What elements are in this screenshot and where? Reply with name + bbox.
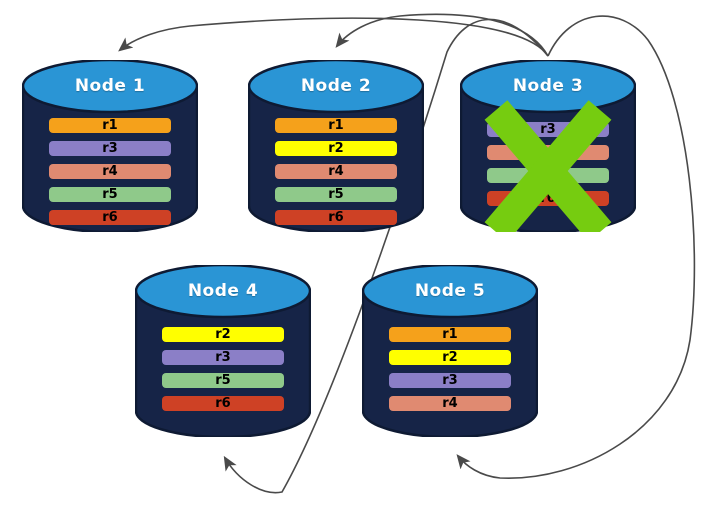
database-node[interactable]: Node 2r1r2r4r5r6 [248, 60, 424, 232]
replica-list: r1r3r4r5r6 [22, 118, 198, 225]
replica-bar[interactable]: r3 [162, 350, 284, 365]
replica-list: r1r2r4r5r6 [248, 118, 424, 225]
replica-bar[interactable]: r5 [49, 187, 171, 202]
replica-bar[interactable]: r4 [49, 164, 171, 179]
replication-edge [337, 14, 548, 56]
replication-edge [120, 18, 548, 56]
replica-bar[interactable]: r1 [275, 118, 397, 133]
replica-bar[interactable]: r3 [49, 141, 171, 156]
replica-bar[interactable]: r6 [275, 210, 397, 225]
replica-bar[interactable]: r3 [389, 373, 511, 388]
replica-list: r1r2r3r4 [362, 327, 538, 411]
replica-bar[interactable]: r6 [487, 191, 609, 206]
cylinder-top [136, 265, 310, 317]
replica-bar[interactable]: r2 [389, 350, 511, 365]
replica-bar[interactable]: r4 [275, 164, 397, 179]
replica-bar[interactable]: r6 [49, 210, 171, 225]
database-node[interactable]: Node 3r3r4r5r6 [460, 60, 636, 232]
replica-bar[interactable]: r4 [389, 396, 511, 411]
replica-bar[interactable]: r1 [389, 327, 511, 342]
replica-bar[interactable]: r5 [487, 168, 609, 183]
diagram-canvas: Node 1r1r3r4r5r6Node 2r1r2r4r5r6Node 3r3… [0, 0, 708, 508]
cylinder-top [363, 265, 537, 317]
replica-bar[interactable]: r6 [162, 396, 284, 411]
replica-list: r2r3r5r6 [135, 327, 311, 411]
database-node[interactable]: Node 1r1r3r4r5r6 [22, 60, 198, 232]
database-node[interactable]: Node 5r1r2r3r4 [362, 265, 538, 437]
replica-bar[interactable]: r5 [162, 373, 284, 388]
cylinder-top [461, 60, 635, 112]
replica-bar[interactable]: r3 [487, 122, 609, 137]
replica-bar[interactable]: r4 [487, 145, 609, 160]
replica-bar[interactable]: r2 [275, 141, 397, 156]
replica-bar[interactable]: r5 [275, 187, 397, 202]
replica-list: r3r4r5r6 [460, 122, 636, 206]
database-node[interactable]: Node 4r2r3r5r6 [135, 265, 311, 437]
replica-bar[interactable]: r1 [49, 118, 171, 133]
cylinder-top [249, 60, 423, 112]
cylinder-top [23, 60, 197, 112]
replica-bar[interactable]: r2 [162, 327, 284, 342]
